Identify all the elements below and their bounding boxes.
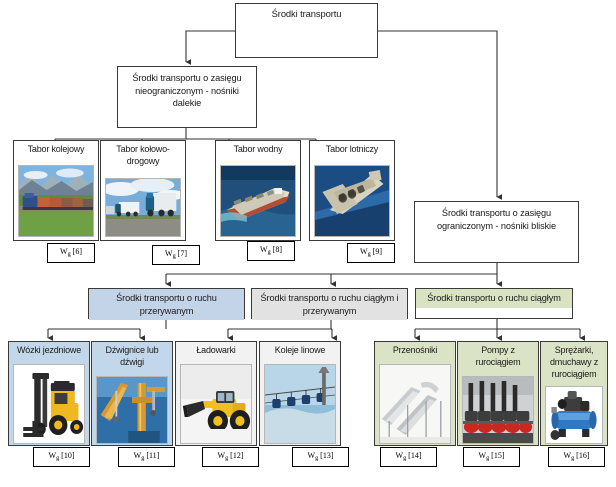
node-limited-range: Środki transportu o zasięgu ograniczonym…	[414, 201, 579, 263]
card-tabor-lotniczy: Tabor lotniczy	[309, 140, 395, 241]
tag-wg-14-text: Wg [14]	[396, 452, 422, 462]
card-tabor-wodny: Tabor wodny	[215, 140, 301, 241]
tag-wg-16: Wg [16]	[548, 447, 605, 467]
wheel-loader-photo	[180, 364, 252, 444]
tag-wg-10-text: Wg [10]	[49, 452, 75, 462]
forklift-photo	[13, 364, 85, 444]
tag-wg-13-text: Wg [13]	[308, 452, 334, 462]
node-motion-intermittent: Środki transportu o ruchu przerywanym	[88, 288, 245, 319]
tag-wg-15-text: Wg [15]	[479, 452, 505, 462]
node-root: Środki transportu	[235, 3, 378, 58]
card-ladowarki-label: Ładowarki	[176, 342, 256, 357]
node-root-label: Środki transportu	[236, 4, 377, 23]
card-tabor-lotniczy-label: Tabor lotniczy	[310, 141, 394, 156]
tag-wg-8: Wg [8]	[247, 241, 295, 261]
card-sprezarki-dmuchawy-label: Sprężarki, dmuchawy z rurociągiem	[541, 342, 607, 382]
node-motion-mixed: Środki transportu o ruchu ciągłym i prze…	[251, 288, 408, 319]
card-tabor-wodny-label: Tabor wodny	[216, 141, 300, 156]
node-motion-mixed-label: Środki transportu o ruchu ciągłym i prze…	[252, 289, 407, 320]
tag-wg-15: Wg [15]	[463, 447, 520, 467]
tag-wg-11-text: Wg [11]	[134, 452, 160, 462]
air-compressor-photo	[545, 386, 603, 444]
tag-wg-8-text: Wg [8]	[260, 246, 282, 256]
freight-train-photo	[18, 165, 94, 237]
node-motion-intermittent-label: Środki transportu o ruchu przerywanym	[89, 289, 244, 320]
card-tabor-kolowo-drogowy: Tabor kołowo-drogowy	[100, 140, 186, 241]
container-ship-photo	[220, 165, 296, 237]
pumps-pipeline-photo	[462, 376, 534, 444]
node-motion-continuous-label: Środki transportu o ruchu ciągłym	[416, 289, 572, 308]
card-sprezarki-dmuchawy: Sprężarki, dmuchawy z rurociągiem	[540, 341, 608, 446]
card-przenosniki: Przenośniki	[374, 341, 456, 446]
cable-car-photo	[264, 364, 336, 444]
trucks-highway-photo	[105, 178, 181, 237]
conveyor-photo	[379, 364, 451, 444]
transport-taxonomy-diagram: Środki transportu Środki transportu o za…	[0, 0, 616, 487]
node-motion-continuous: Środki transportu o ruchu ciągłym	[415, 288, 573, 319]
node-unlimited-range: Środki transportu o zasięgu nieograniczo…	[117, 66, 257, 128]
tag-wg-6-sub: g	[68, 251, 71, 258]
tag-wg-7-text: Wg [7]	[165, 250, 187, 260]
tag-wg-9-text: Wg [9]	[360, 248, 382, 258]
tag-wg-12: Wg [12]	[202, 447, 259, 467]
card-koleje-linowe-label: Koleje linowe	[260, 342, 340, 357]
tag-wg-9: Wg [9]	[347, 243, 395, 263]
tag-wg-11: Wg [11]	[118, 447, 175, 467]
card-dzwignice-lub-dzwigi-label: Dźwignice lub dźwigi	[92, 342, 172, 369]
card-ladowarki: Ładowarki	[175, 341, 257, 446]
card-wozki-jezdniowe-label: Wózki jezdniowe	[9, 342, 89, 357]
tag-wg-14: Wg [14]	[380, 447, 437, 467]
node-limited-range-label: Środki transportu o zasięgu ograniczonym…	[415, 202, 578, 234]
card-tabor-kolowo-drogowy-label: Tabor kołowo-drogowy	[101, 141, 185, 168]
card-pompy-z-rurociagiem: Pompy z rurociągiem	[457, 341, 539, 446]
card-dzwignice-lub-dzwigi: Dźwignice lub dźwigi	[91, 341, 173, 446]
card-przenosniki-label: Przenośniki	[375, 342, 455, 357]
tower-crane-photo	[96, 376, 168, 444]
tag-wg-6: Wg [6]	[47, 243, 95, 263]
card-tabor-kolejowy: Tabor kolejowy	[13, 140, 99, 241]
card-tabor-kolejowy-label: Tabor kolejowy	[14, 141, 98, 156]
tag-wg-7: Wg [7]	[152, 245, 200, 265]
tag-wg-10: Wg [10]	[33, 447, 90, 467]
node-unlimited-range-label: Środki transportu o zasięgu nieograniczo…	[118, 67, 256, 112]
tag-wg-12-text: Wg [12]	[218, 452, 244, 462]
card-koleje-linowe: Koleje linowe	[259, 341, 341, 446]
cargo-airplane-photo	[314, 165, 390, 237]
card-wozki-jezdniowe: Wózki jezdniowe	[8, 341, 90, 446]
tag-wg-13: Wg [13]	[292, 447, 349, 467]
card-pompy-z-rurociagiem-label: Pompy z rurociągiem	[458, 342, 538, 369]
tag-wg-16-text: Wg [16]	[564, 452, 590, 462]
tag-wg-6-text: Wg [6]	[60, 248, 82, 258]
